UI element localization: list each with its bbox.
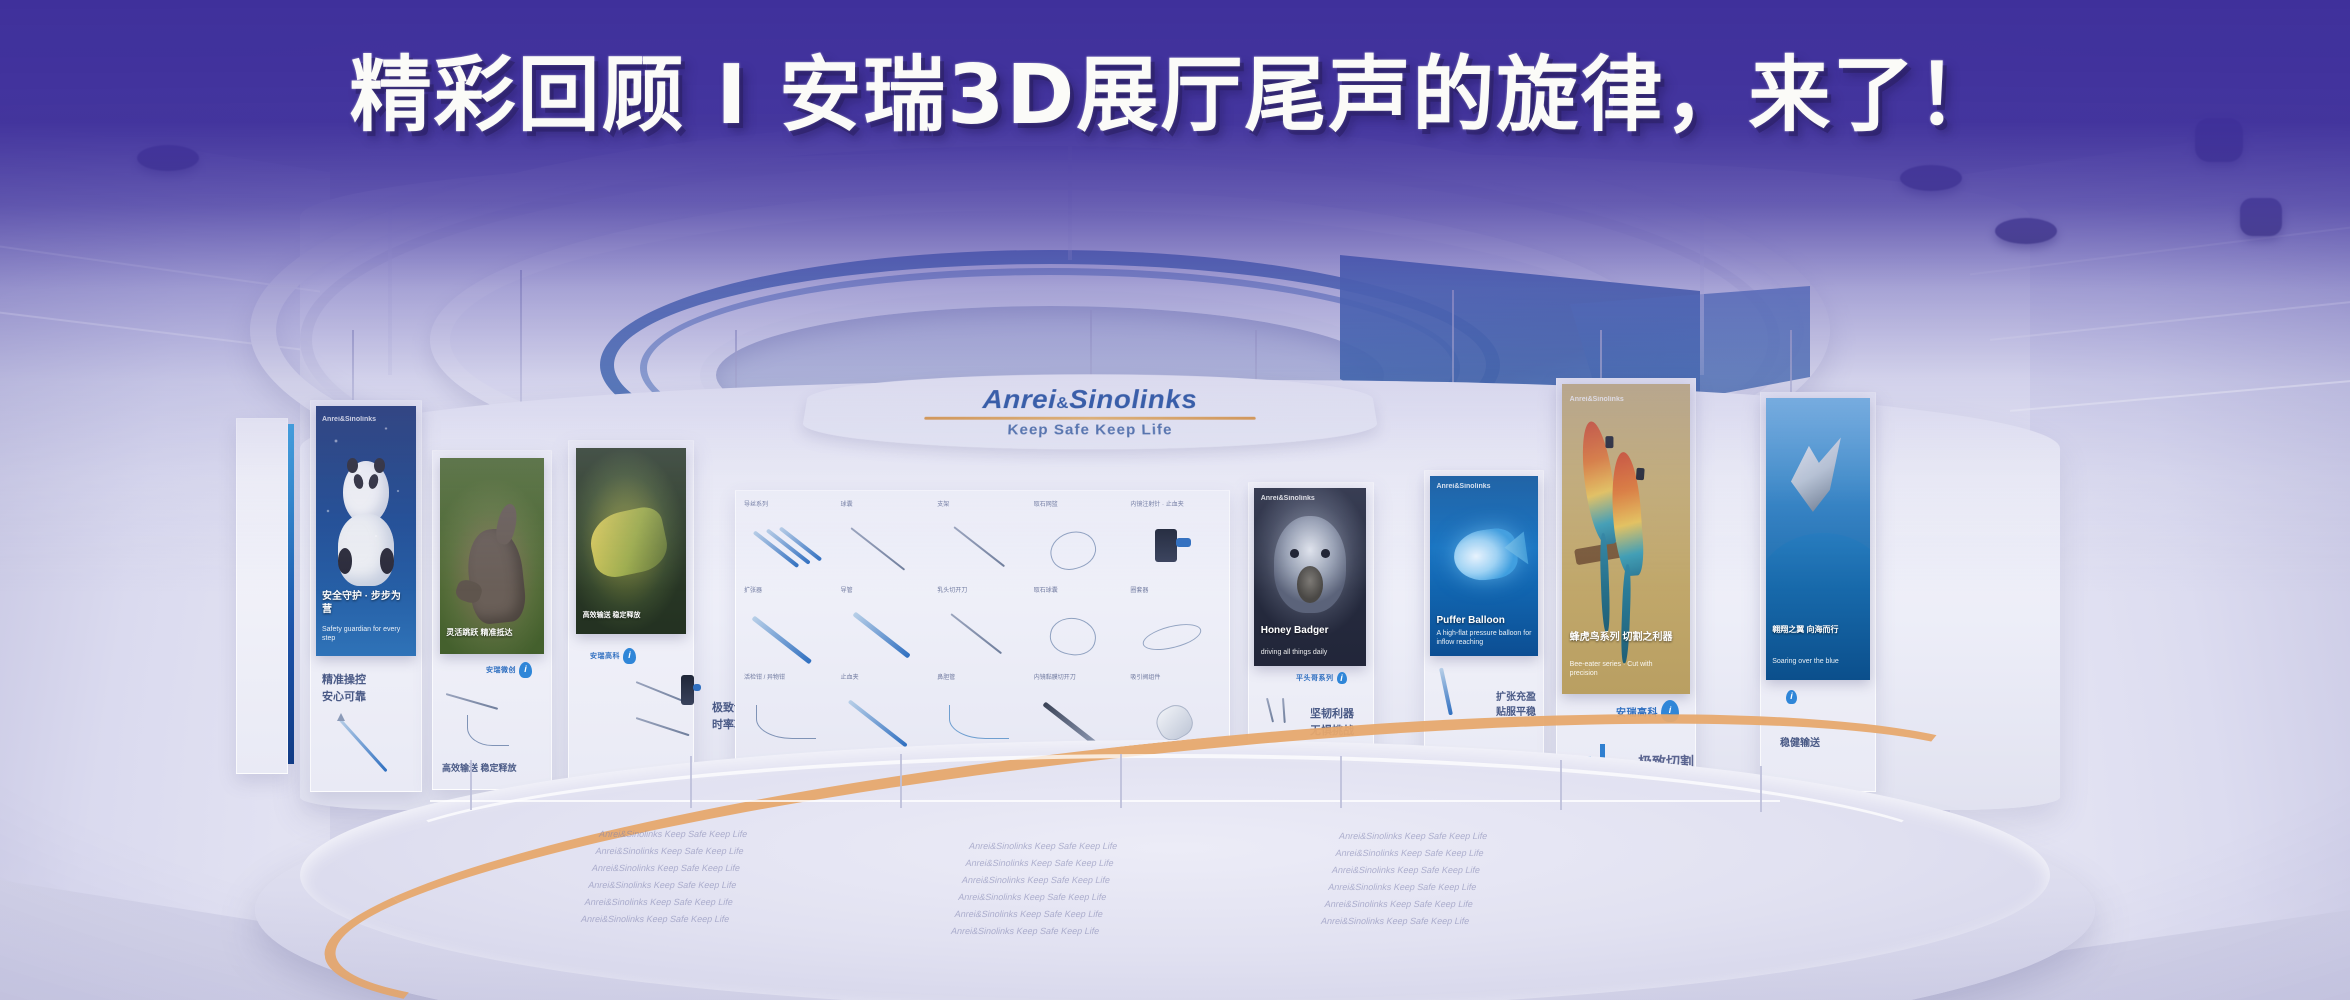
device-illustration-lizard-panel — [636, 672, 716, 758]
panel-panda-caption: 精准操控 安心可靠 — [322, 672, 366, 705]
poster-subtitle: Safety guardian for every step — [322, 625, 410, 643]
panel-left-blue-edge — [288, 424, 294, 764]
floor-text-line: Anrei&Sinolinks Keep Safe Keep Life — [1337, 828, 1489, 845]
product-label: 取石网篮 — [1034, 499, 1058, 508]
poster-title: 灵活跳跃 精准抵达 — [446, 628, 538, 638]
floor-text-column: Anrei&Sinolinks Keep Safe Keep Life Anre… — [1319, 828, 1489, 931]
kangaroo-illustration — [464, 526, 528, 625]
poster-brand: Anrei&Sinolinks — [1261, 495, 1315, 502]
panda-head — [343, 461, 389, 524]
product-label: 支架 — [937, 499, 949, 508]
ceiling-spotlight — [2240, 198, 2282, 236]
railing-post — [900, 754, 902, 808]
panel-badger-badge: 平头哥系列 — [1296, 672, 1347, 684]
poster-title: 高效输送 稳定释放 — [583, 612, 680, 621]
floor-text-line: Anrei&Sinolinks Keep Safe Keep Life — [583, 894, 735, 911]
product-label: 止血夹 — [841, 672, 859, 681]
badger-eye-left — [1290, 549, 1299, 558]
poster-subtitle: A high-flat pressure balloon for inflow … — [1436, 629, 1531, 647]
product-label: 吸引阀组件 — [1130, 672, 1160, 681]
ring-spoke — [1700, 210, 1704, 375]
bird-tail — [1620, 564, 1632, 663]
brand-logo-anrei: Anrei — [982, 384, 1057, 413]
product-cell[interactable]: 止血夹 — [839, 672, 934, 756]
railing-post — [1120, 754, 1122, 808]
lizard-illustration — [586, 504, 672, 581]
panda-arm-left — [338, 548, 353, 574]
railing-post — [1760, 766, 1762, 812]
floor-text-line: Anrei&Sinolinks Keep Safe Keep Life — [956, 889, 1108, 906]
poster-title: 翱翔之翼 向海而行 — [1772, 625, 1864, 635]
product-cell[interactable]: 导管 — [839, 585, 934, 669]
eagle-illustration — [1791, 437, 1841, 522]
rod-icon — [846, 523, 925, 579]
brand-logo-amp: & — [1056, 394, 1069, 412]
poster-brand: Anrei&Sinolinks — [322, 416, 376, 423]
panda-arm-right — [380, 548, 395, 574]
floor-text-line: Anrei&Sinolinks Keep Safe Keep Life — [964, 855, 1116, 872]
floor-text-line: Anrei&Sinolinks Keep Safe Keep Life — [590, 860, 742, 877]
panel-far-left — [236, 418, 288, 774]
poster-badger: Anrei&Sinolinks Honey Badger driving all… — [1254, 488, 1366, 666]
floor-text-line: Anrei&Sinolinks Keep Safe Keep Life — [597, 826, 749, 843]
page-title: 精彩回顾 I 安瑞3D展厅尾声的旋律，来了！ — [0, 28, 2350, 147]
product-cell[interactable]: 扩张器 — [742, 585, 837, 669]
stone-loop-icon — [1039, 609, 1118, 665]
floor-text-line: Anrei&Sinolinks Keep Safe Keep Life — [586, 877, 738, 894]
product-cell[interactable]: 活检钳 / 异物钳 — [742, 672, 837, 756]
product-label: 导管 — [841, 585, 853, 594]
poster-panda: Anrei&Sinolinks 安全守护 · 步步为营 Safety guard… — [316, 406, 416, 656]
railing-post — [1340, 756, 1342, 808]
floor-text-line: Anrei&Sinolinks Keep Safe Keep Life — [953, 906, 1105, 923]
panda-illustration — [334, 461, 398, 586]
floor-text-line: Anrei&Sinolinks Keep Safe Keep Life — [579, 911, 731, 928]
badge-label: 平头哥系列 — [1296, 673, 1334, 683]
guidewire-icon — [750, 523, 829, 579]
anrei-i-mark-icon — [1786, 690, 1797, 704]
poster-title: 安全守护 · 步步为营 — [322, 591, 410, 616]
poster-title: Honey Badger — [1261, 625, 1360, 638]
product-label: 内镜注射针 · 止血夹 — [1130, 499, 1183, 508]
snare-icon — [1136, 609, 1215, 665]
panda-body — [338, 514, 394, 587]
railing-post — [470, 760, 472, 810]
panda-eye-left — [352, 473, 365, 490]
ceiling-spotlight — [1900, 165, 1962, 191]
product-label: 扩张器 — [744, 585, 762, 594]
poster-title: Puffer Balloon — [1436, 615, 1531, 628]
panel-kangaroo-badge: 安瑞微创 — [486, 662, 532, 678]
product-label: 取石球囊 — [1034, 585, 1058, 594]
product-cell[interactable]: 内镜注射针 · 止血夹 — [1128, 499, 1223, 583]
brand-tagline: Keep Safe Keep Life — [1007, 422, 1173, 439]
poster-kangaroo: 灵活跳跃 精准抵达 — [440, 458, 544, 654]
puffer-fish-illustration — [1451, 526, 1520, 585]
bird-beak-icon — [1605, 437, 1613, 449]
floor-text-line: Anrei&Sinolinks Keep Safe Keep Life — [960, 872, 1112, 889]
floor-text-line: Anrei&Sinolinks Keep Safe Keep Life — [594, 843, 746, 860]
floor-text-line: Anrei&Sinolinks Keep Safe Keep Life — [1323, 896, 1475, 913]
product-label: 鼻胆管 — [937, 672, 955, 681]
product-cell[interactable]: 导丝系列 — [742, 499, 837, 583]
panel-ocean-badge — [1786, 690, 1797, 704]
poster-lizard: 高效输送 稳定释放 — [576, 448, 686, 634]
floor-text-line: Anrei&Sinolinks Keep Safe Keep Life — [967, 838, 1119, 855]
poster-ocean: 翱翔之翼 向海而行 Soaring over the blue — [1766, 398, 1870, 680]
product-label: 球囊 — [841, 499, 853, 508]
device-illustration-panda-panel — [336, 712, 410, 772]
floor-text-line: Anrei&Sinolinks Keep Safe Keep Life — [1326, 879, 1478, 896]
badger-illustration — [1274, 516, 1346, 612]
panel-kangaroo-caption: 高效输送 稳定释放 — [442, 762, 517, 776]
platform-railing — [430, 800, 1780, 802]
panda-eye-right — [367, 473, 380, 490]
product-label: 内镜黏膜切开刀 — [1034, 672, 1076, 681]
floor-text-line: Anrei&Sinolinks Keep Safe Keep Life — [1319, 913, 1471, 930]
brand-logo-text: Anrei&Sinolinks — [982, 384, 1198, 414]
bird-beak-icon — [1636, 468, 1645, 481]
clip-icon — [846, 695, 925, 751]
ceiling-spotlight — [137, 145, 199, 171]
thin-rod-icon — [943, 523, 1022, 579]
poster-title: 蜂虎鸟系列 切割之利器 — [1570, 632, 1683, 645]
showroom-banner: Anrei&Sinolinks Keep Safe Keep Life Anre… — [0, 0, 2350, 1000]
product-cell[interactable]: 球囊 — [839, 499, 934, 583]
product-cell[interactable]: 取石球囊 — [1032, 585, 1127, 669]
floor-text-column: Anrei&Sinolinks Keep Safe Keep Life Anre… — [949, 838, 1119, 941]
block-icon — [1136, 523, 1215, 579]
poster-subtitle: Bee-eater series · Cut with precision — [1570, 660, 1683, 678]
ceiling-spotlight — [1995, 218, 2057, 244]
product-label: 乳头切开刀 — [937, 585, 967, 594]
floor-text-column: Anrei&Sinolinks Keep Safe Keep Life Anre… — [579, 826, 749, 929]
railing-post — [1560, 760, 1562, 810]
forceps-icon — [750, 695, 829, 751]
poster-brand: Anrei&Sinolinks — [1436, 483, 1490, 490]
device-illustration-kangaroo-panel — [444, 682, 540, 758]
catheter-icon — [846, 609, 925, 665]
product-cell[interactable]: 支架 — [935, 499, 1030, 583]
floor-text-line: Anrei&Sinolinks Keep Safe Keep Life — [949, 923, 1101, 940]
panda-ear-left — [347, 458, 358, 473]
floor-text-line: Anrei&Sinolinks Keep Safe Keep Life — [1330, 862, 1482, 879]
loop-icon — [1039, 523, 1118, 579]
panda-ear-right — [374, 458, 385, 473]
anrei-i-mark-icon — [1337, 672, 1347, 684]
badger-eye-right — [1321, 549, 1330, 558]
anrei-i-mark-icon — [623, 648, 636, 664]
badger-snout — [1297, 566, 1323, 603]
product-label: 活检钳 / 异物钳 — [744, 672, 785, 681]
brand-logo-sinolinks: Sinolinks — [1069, 384, 1198, 413]
poster-subtitle: Soaring over the blue — [1772, 657, 1864, 666]
brand-logo-underline — [924, 417, 1256, 420]
poster-puffer: Anrei&Sinolinks Puffer Balloon A high-fl… — [1430, 476, 1538, 656]
badge-label: 安瑞微创 — [486, 665, 516, 675]
panel-lizard-badge: 安瑞高科 — [590, 648, 636, 664]
product-cell[interactable]: 圈套器 — [1128, 585, 1223, 669]
brand-logo-band: Anrei&Sinolinks Keep Safe Keep Life — [799, 374, 1382, 449]
badge-label: 安瑞高科 — [590, 651, 620, 661]
product-cell[interactable]: 乳头切开刀 — [935, 585, 1030, 669]
product-label: 导丝系列 — [744, 499, 768, 508]
dilator-icon — [750, 609, 829, 665]
poster-brand: Anrei&Sinolinks — [1570, 396, 1624, 403]
anrei-i-mark-icon — [519, 662, 532, 678]
product-cell[interactable]: 取石网篮 — [1032, 499, 1127, 583]
sphincterotome-icon — [943, 609, 1022, 665]
floor-text-line: Anrei&Sinolinks Keep Safe Keep Life — [1334, 845, 1486, 862]
poster-subtitle: driving all things daily — [1261, 648, 1360, 657]
poster-birds: Anrei&Sinolinks 蜂虎鸟系列 切割之利器 Bee-eater se… — [1562, 384, 1690, 694]
railing-post — [690, 756, 692, 808]
ring-spoke — [1068, 140, 1072, 260]
ring-spoke — [388, 205, 392, 375]
product-display-wall: 导丝系列 球囊 支架 取石网篮 内镜注射针 · 止血夹 扩张器 — [735, 490, 1230, 765]
product-label: 圈套器 — [1130, 585, 1148, 594]
